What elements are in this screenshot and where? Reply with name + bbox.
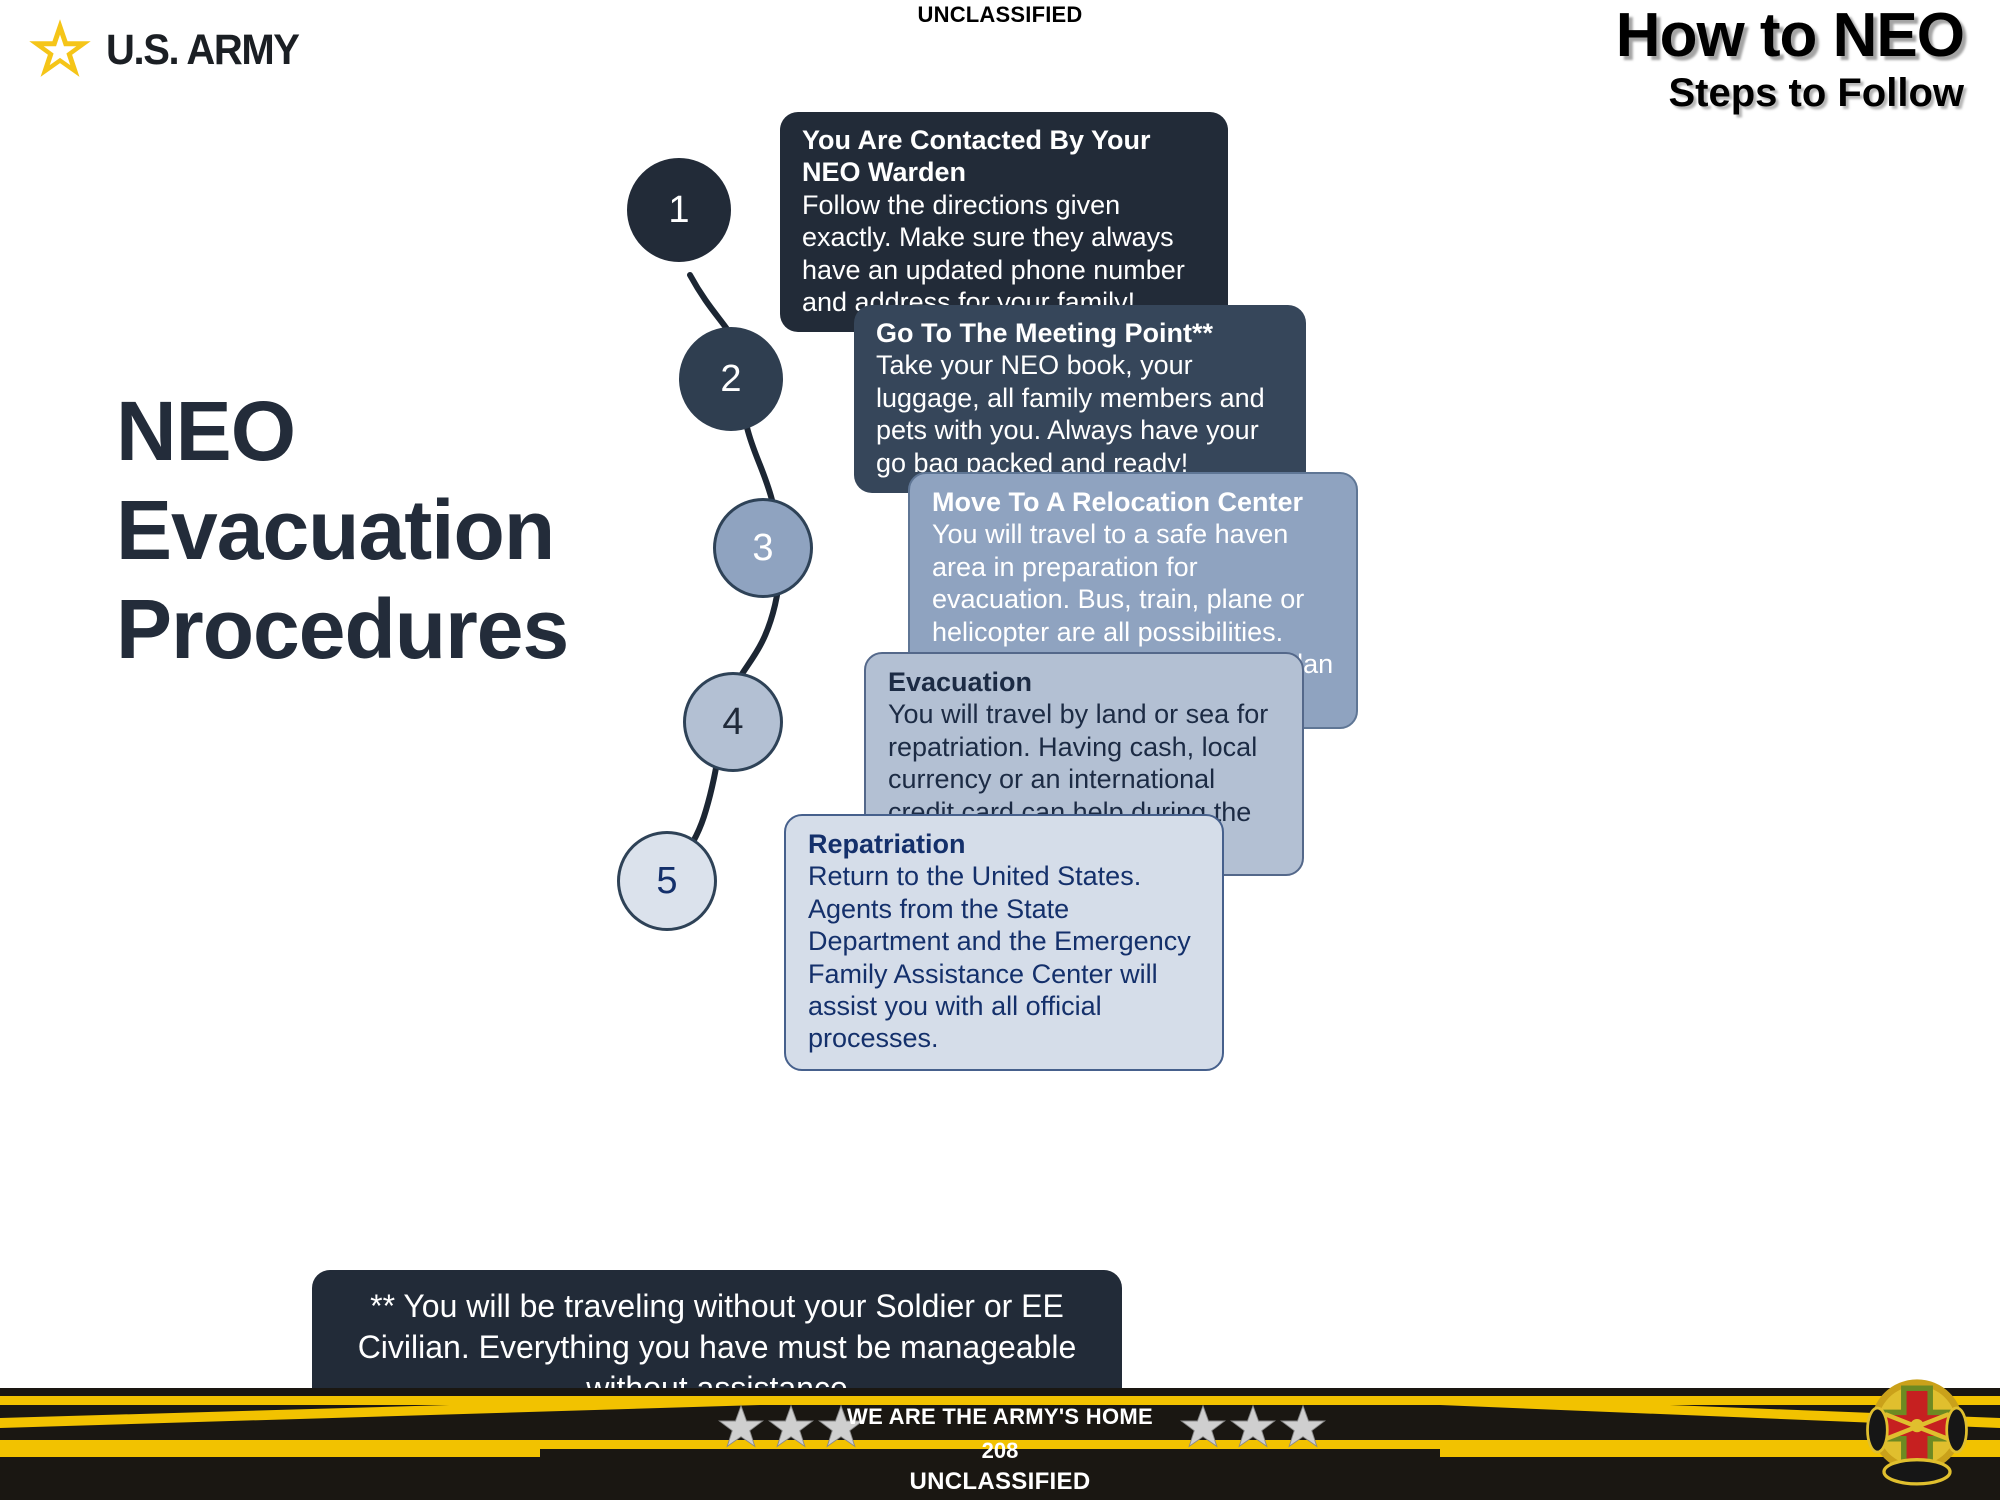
step-circle-3[interactable]: 3	[713, 498, 813, 598]
step-circle-1[interactable]: 1	[627, 158, 731, 262]
step-circle-5[interactable]: 5	[617, 831, 717, 931]
step-callout-5[interactable]: Repatriation Return to the United States…	[784, 814, 1224, 1071]
step-number-1: 1	[668, 189, 689, 232]
footer-page-number: 208	[0, 1438, 2000, 1464]
step-callout-1[interactable]: You Are Contacted By Your NEO Warden Fol…	[780, 112, 1228, 332]
step-circle-4[interactable]: 4	[683, 672, 783, 772]
step-body-2: Take your NEO book, your luggage, all fa…	[876, 349, 1286, 479]
step-body-1: Follow the directions given exactly. Mak…	[802, 189, 1208, 319]
step-number-2: 2	[720, 358, 741, 401]
step-number-5: 5	[656, 860, 677, 903]
step-heading-3: Move To A Relocation Center	[932, 486, 1336, 518]
step-heading-1: You Are Contacted By Your NEO Warden	[802, 124, 1208, 189]
step-heading-4: Evacuation	[888, 666, 1282, 698]
slide-header: How to NEO Steps to Follow	[1616, 4, 1964, 115]
slide-footer: WE ARE THE ARMY'S HOME 208 UNCLASSIFIED	[0, 1388, 2000, 1500]
step-circle-2[interactable]: 2	[679, 327, 783, 431]
step-callout-2[interactable]: Go To The Meeting Point** Take your NEO …	[854, 305, 1306, 493]
page-title: NEO Evacuation Procedures	[116, 382, 716, 679]
step-number-4: 4	[722, 701, 743, 744]
step-heading-5: Repatriation	[808, 828, 1202, 860]
footer-motto: WE ARE THE ARMY'S HOME	[0, 1404, 2000, 1430]
header-title: How to NEO	[1616, 4, 1964, 67]
army-star-icon	[28, 18, 92, 82]
bottom-classification-banner: UNCLASSIFIED	[0, 1468, 2000, 1496]
us-army-logo: U.S. ARMY	[28, 18, 313, 82]
army-wordmark: U.S. ARMY	[106, 26, 299, 75]
header-subtitle: Steps to Follow	[1616, 71, 1964, 115]
step-heading-2: Go To The Meeting Point**	[876, 317, 1286, 349]
step-body-5: Return to the United States. Agents from…	[808, 860, 1202, 1054]
imcom-crest-icon	[1862, 1374, 1972, 1486]
step-number-3: 3	[752, 527, 773, 570]
